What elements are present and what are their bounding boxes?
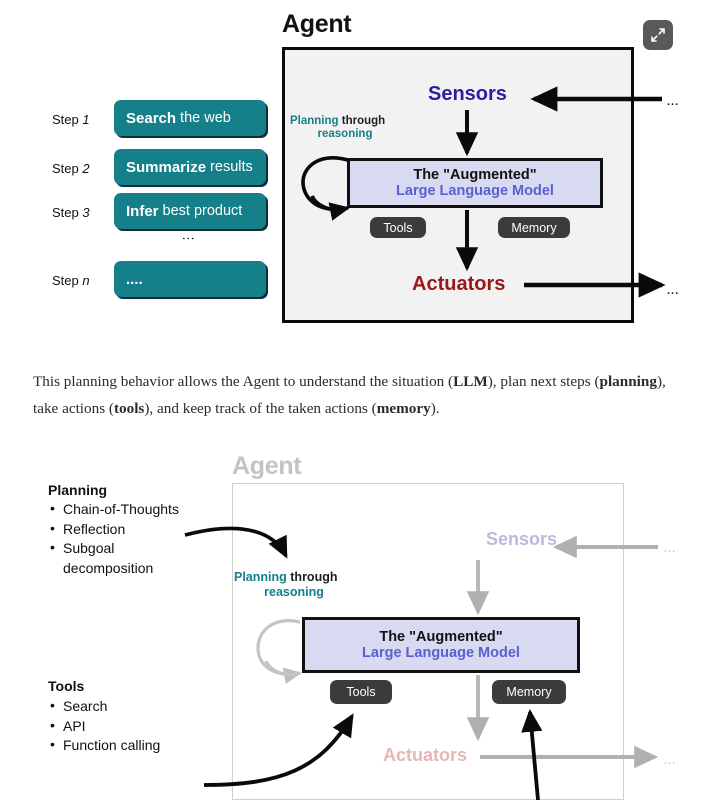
sensors-label-bottom: Sensors [486, 529, 557, 550]
list-item: Reflection [48, 520, 179, 540]
llm-box-bottom: The "Augmented" Large Language Model [302, 617, 580, 673]
figure-page: Agent Step 1 Searchthe web Step 2 Summar… [0, 0, 714, 800]
step-label-1: Step 1 [52, 112, 90, 127]
sensors-label-top: Sensors [428, 83, 507, 106]
step-label-2: Step 2 [52, 161, 90, 176]
llm-title-top: The "Augmented" [413, 167, 536, 183]
list-item: API [48, 717, 160, 737]
llm-subtitle-top: Large Language Model [396, 183, 554, 199]
memory-chip-bottom: Memory [492, 680, 566, 704]
llm-subtitle-bottom: Large Language Model [362, 645, 520, 661]
step-label-3: Step 3 [52, 205, 90, 220]
list-item: Function calling [48, 736, 160, 756]
step-box-2[interactable]: Summarizeresults [114, 149, 266, 185]
step-label-n: Step n [52, 273, 90, 288]
sensor-ellipsis-bottom: ... [664, 543, 676, 555]
step-box-3[interactable]: Inferbest product [114, 193, 266, 229]
planning-list: Chain-of-Thoughts Reflection Subgoal dec… [48, 500, 179, 578]
tools-chip-bottom: Tools [330, 680, 392, 704]
tools-list-heading: Tools [48, 678, 84, 694]
actuators-label-bottom: Actuators [383, 745, 467, 766]
actuator-ellipsis-top: ... [667, 285, 679, 297]
agent-title-bottom: Agent [232, 452, 301, 481]
tools-chip-top: Tools [370, 217, 426, 238]
step-ellipsis: ⋮ [186, 232, 191, 246]
llm-box-top: The "Augmented" Large Language Model [347, 158, 603, 208]
list-item: Subgoal [48, 539, 179, 559]
actuators-label-top: Actuators [412, 273, 505, 296]
memory-chip-top: Memory [498, 217, 570, 238]
list-item: Chain-of-Thoughts [48, 500, 179, 520]
sensor-ellipsis-top: ... [667, 96, 679, 108]
tools-list: Search API Function calling [48, 697, 160, 756]
list-item: decomposition [48, 559, 179, 579]
body-paragraph: This planning behavior allows the Agent … [33, 368, 683, 422]
agent-title-top: Agent [282, 10, 351, 39]
expand-button[interactable] [643, 20, 673, 50]
planning-list-heading: Planning [48, 482, 107, 498]
list-item: Search [48, 697, 160, 717]
llm-title-bottom: The "Augmented" [379, 629, 502, 645]
step-box-1[interactable]: Searchthe web [114, 100, 266, 136]
expand-arrows-icon [650, 27, 666, 43]
planning-label-top: Planning through reasoning [290, 115, 400, 141]
step-box-n[interactable]: .... [114, 261, 266, 297]
planning-label-bottom: Planning through reasoning [234, 570, 354, 600]
actuator-ellipsis-bottom: ... [664, 755, 676, 767]
